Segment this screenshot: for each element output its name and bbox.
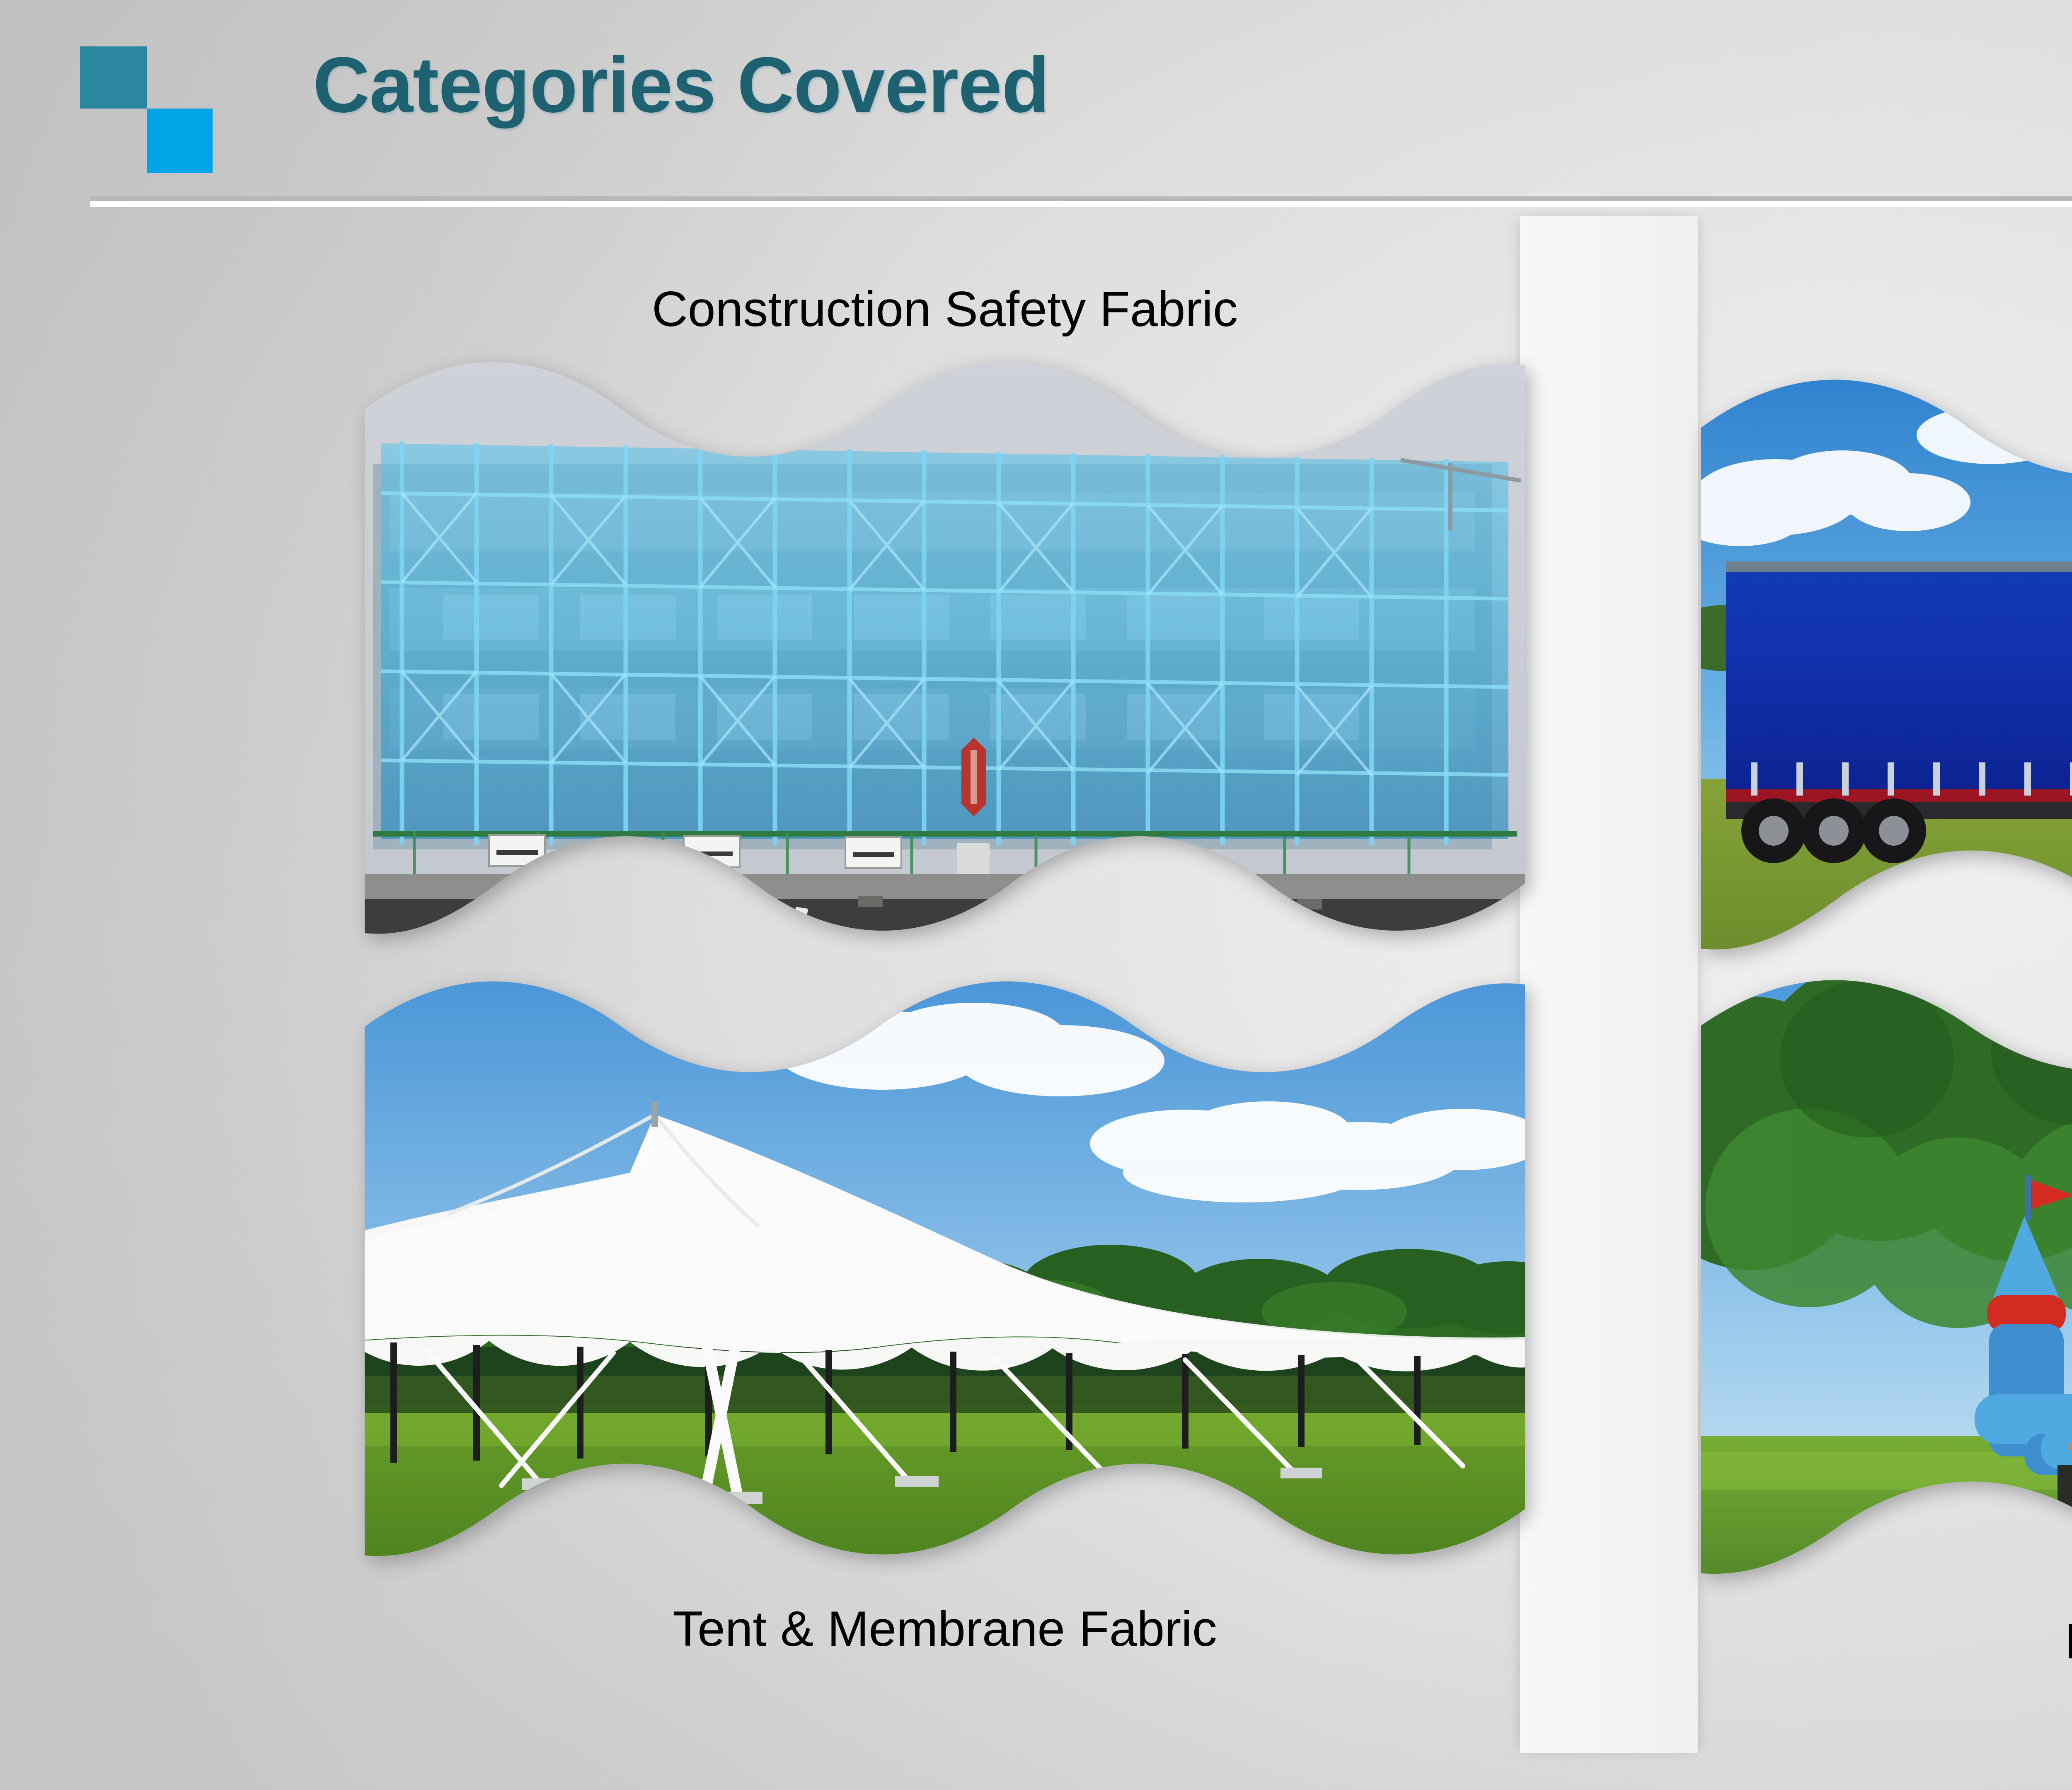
header-divider-bottom-line <box>90 201 2072 207</box>
wave-frame-cover <box>1701 373 2072 953</box>
wave-frame-tent <box>365 978 1525 1558</box>
wave-frame-pvc <box>1701 976 2072 1577</box>
center-divider-panel <box>1520 216 1698 1753</box>
wave-frame-construction <box>365 356 1525 936</box>
header-divider <box>90 196 2072 207</box>
card-label-construction-safety-fabric: Construction Safety Fabric <box>365 282 1525 336</box>
two-square-logo <box>80 46 213 173</box>
card-label-cover-fabric: Cover Fabric <box>1699 290 2072 345</box>
card-label-tent-membrane-fabric: Tent & Membrane Fabric <box>365 1601 1525 1656</box>
photo-card-pvc-inflatable-fabric[interactable] <box>1701 976 2072 1577</box>
logo-square-light-icon <box>147 109 213 173</box>
card-label-pvc-inflatable-fabric: PVC Inflatable Fabric <box>1699 1614 2072 1669</box>
photo-card-cover-fabric[interactable] <box>1701 373 2072 953</box>
photo-card-construction-safety-fabric[interactable] <box>365 356 1525 936</box>
page-title: Categories Covered <box>313 46 1049 124</box>
header-divider-top-line <box>90 196 2072 201</box>
photo-card-tent-membrane-fabric[interactable] <box>365 978 1525 1558</box>
logo-square-dark-icon <box>80 46 147 109</box>
